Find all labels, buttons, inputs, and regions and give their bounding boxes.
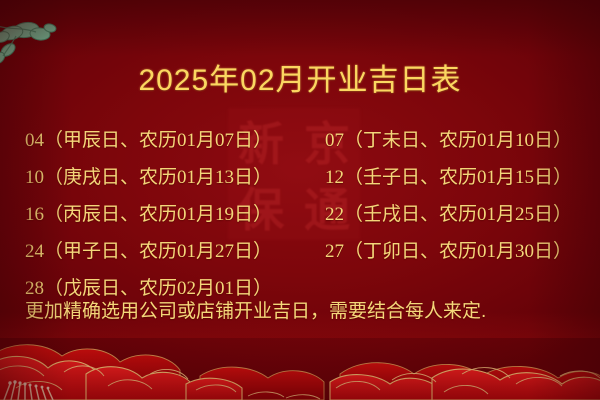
date-entry-left: 24（甲子日、农历01月27日） <box>25 240 325 264</box>
auspicious-dates-poster: 新 京 保 通 2025年02月开业吉日表 <box>0 0 600 400</box>
date-entry-right: 27（丁卯日、农历01月30日） <box>325 240 577 264</box>
date-entry-left: 16（丙辰日、农历01月19日） <box>25 203 325 227</box>
page-title: 2025年02月开业吉日表 <box>0 64 600 98</box>
auspicious-date-list: 04（甲辰日、农历01月07日） 07（丁未日、农历01月10日） 10（庚戌日… <box>25 122 577 307</box>
date-entry-right: 07（丁未日、农历01月10日） <box>325 129 577 153</box>
date-entry-right: 12（壬子日、农历01月15日） <box>325 166 577 190</box>
footer-note: 更加精确选用公司或店铺开业吉日，需要结合每人来定. <box>25 299 585 325</box>
date-row: 10（庚戌日、农历01月13日） 12（壬子日、农历01月15日） <box>25 159 577 196</box>
peony-border-decoration <box>0 322 600 400</box>
date-entry-right: 22（壬戌日、农历01月25日） <box>325 203 577 227</box>
date-row: 04（甲辰日、农历01月07日） 07（丁未日、农历01月10日） <box>25 122 577 159</box>
date-entry-left: 04（甲辰日、农历01月07日） <box>25 129 325 153</box>
date-row: 16（丙辰日、农历01月19日） 22（壬戌日、农历01月25日） <box>25 196 577 233</box>
pine-branch-icon <box>0 14 62 66</box>
date-entry-left: 28（戊辰日、农历02月01日） <box>25 277 325 301</box>
date-row: 24（甲子日、农历01月27日） 27（丁卯日、农历01月30日） <box>25 233 577 270</box>
date-entry-left: 10（庚戌日、农历01月13日） <box>25 166 325 190</box>
